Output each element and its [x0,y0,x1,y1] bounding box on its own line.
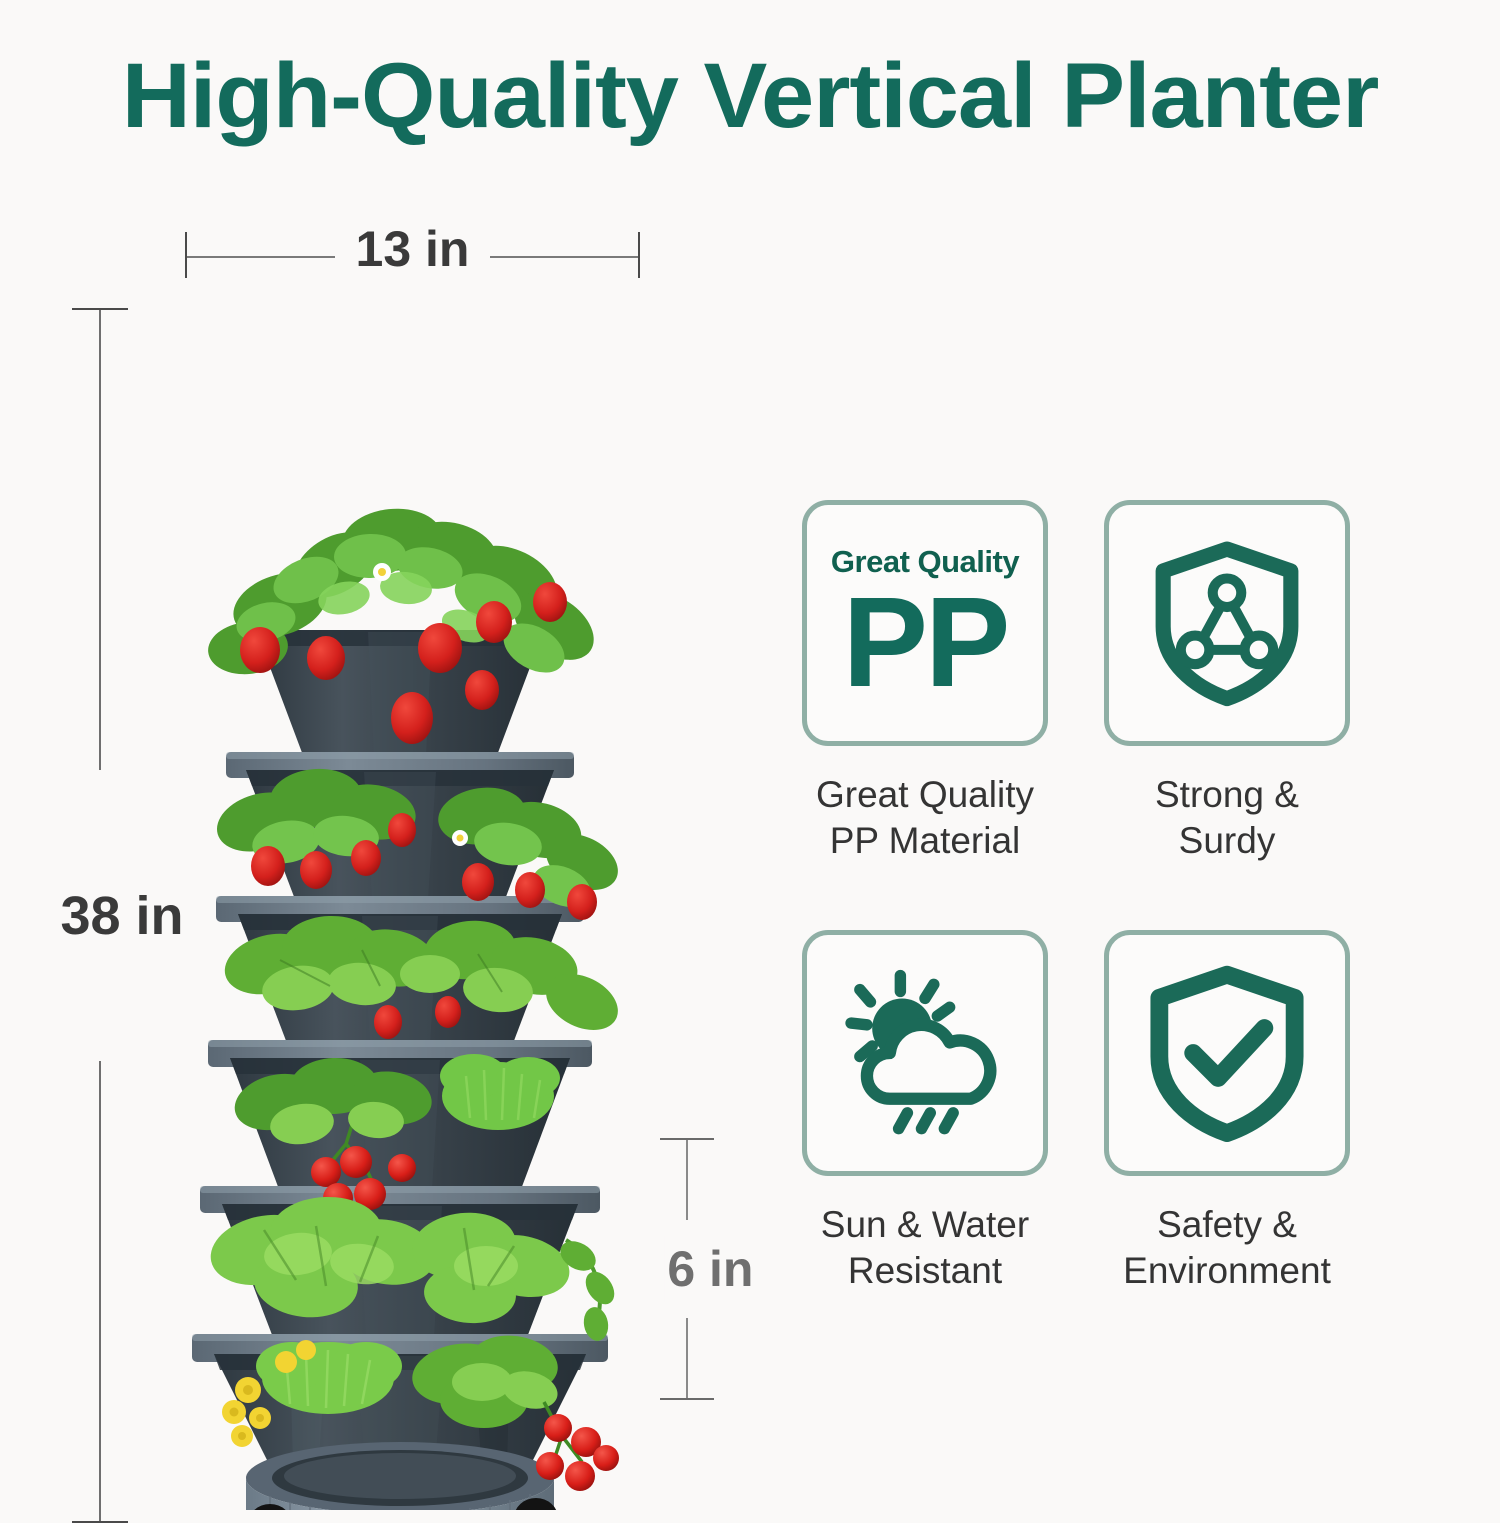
feature-grid: Great Quality PP Great Quality PP Materi… [800,500,1420,1330]
dimension-width-line-left [187,256,335,258]
feature-caption: Great Quality PP Material [816,772,1034,865]
dimension-tier-line-bottom [686,1318,688,1398]
product-image-panel: 13 in 38 in 6 in [0,190,790,1500]
feature-caption: Strong & Surdy [1102,772,1352,865]
dimension-tier-line-top [686,1140,688,1220]
dimension-height-line-bottom [99,1061,101,1521]
shield-check-icon-card [1104,930,1350,1176]
feature-sun-water-resistant: Sun & Water Resistant [800,930,1050,1320]
feature-pp-material: Great Quality PP Great Quality PP Materi… [800,500,1050,890]
dimension-height: 38 in [62,308,182,1523]
dimension-width-label: 13 in [344,220,482,278]
dimension-height-line-top [99,310,101,770]
dimension-width-line-right [490,256,638,258]
feature-safety-environment: Safety & Environment [1102,930,1352,1320]
dimension-width: 13 in [185,232,640,290]
vertical-planter-illustration [130,250,670,1510]
page-title: High-Quality Vertical Planter [0,44,1500,149]
dimension-tier-label: 6 in [665,1236,755,1302]
shield-molecule-icon [1143,539,1311,707]
feature-caption: Sun & Water Resistant [821,1202,1029,1295]
pp-material-icon: Great Quality PP [802,500,1048,746]
dimension-width-cap-right [638,232,640,278]
dimension-width-cap-left [185,232,187,278]
feature-strong-sturdy: Strong & Surdy [1102,500,1352,890]
shield-molecule-icon-card [1104,500,1350,746]
dimension-tier-cap-bottom [660,1398,714,1400]
pp-badge-big-label: PP [843,584,1008,702]
sun-cloud-rain-icon [837,965,1013,1141]
dimension-height-label: 38 in [56,879,187,953]
feature-caption: Safety & Environment [1123,1202,1331,1295]
dimension-tier: 6 in [648,1138,768,1400]
shield-check-icon [1138,964,1316,1142]
sun-cloud-rain-icon-card [802,930,1048,1176]
